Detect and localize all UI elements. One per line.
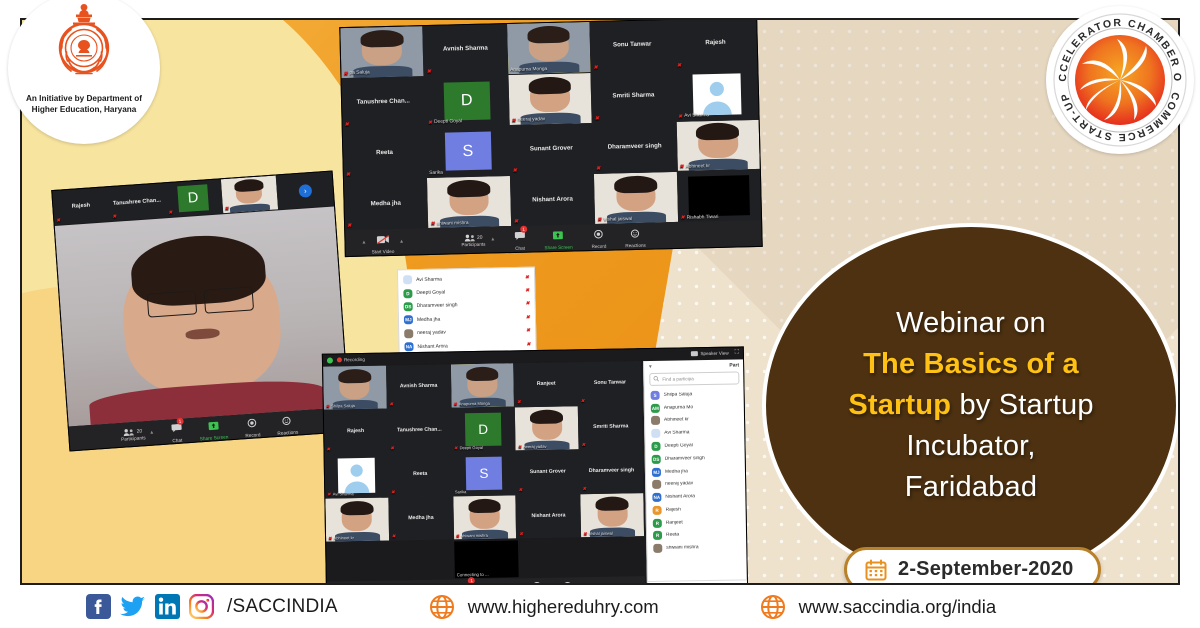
recording-dot-icon (337, 357, 342, 362)
participant-photo (220, 175, 277, 213)
search-placeholder: Find a participa (662, 376, 694, 382)
participant-tile[interactable]: Medha jha✖ (389, 496, 453, 540)
mic-muted-icon: ✖ (389, 401, 393, 407)
mic-muted-icon: ✖ (518, 444, 522, 449)
mic-muted-icon: ✖ (56, 219, 60, 224)
participant-corner-name: Anapurna Monga (510, 67, 547, 73)
reactions-label: Reactions (625, 242, 646, 247)
title-line-2: The Basics of a (863, 344, 1079, 385)
mic-muted-icon: ✖ (526, 341, 530, 347)
share-screen-icon (207, 417, 219, 436)
mic-muted-icon: ✖ (582, 486, 586, 492)
participant-tile[interactable]: ✖Anapurna Monga (451, 363, 515, 407)
participant-tile[interactable]: ✖shiwani mishra (427, 176, 511, 228)
participant-name: Anapurna Mo (664, 404, 739, 410)
participant-initial-avatar: MJ (404, 315, 413, 324)
mic-muted-icon: ✖ (343, 71, 347, 77)
participant-tile[interactable]: SSarika (452, 451, 516, 495)
sacc-swirl-logo-icon: ACCELERATOR CHAMBER OF COMMERCE START-UP (1046, 6, 1194, 154)
participant-avatar (653, 544, 662, 553)
chat-label: Chat (172, 437, 182, 443)
mic-muted-icon: ✖ (430, 221, 434, 227)
mic-muted-icon: ✖ (112, 215, 116, 220)
participant-tile[interactable]: D✖Deepti Goyal (425, 75, 509, 127)
mic-muted-icon: ✖ (392, 533, 396, 539)
globe-icon (429, 594, 455, 620)
mic-muted-icon: ✖ (454, 445, 458, 450)
participant-name: Rajesh (345, 429, 366, 435)
participant-name: Smriti Sharma (610, 93, 656, 101)
participant-corner-name: ✖Anapurna Monga (453, 401, 490, 407)
participant-name: Deepti Goyal (664, 442, 739, 448)
participant-tile[interactable]: ✖neeraj yadav (508, 73, 592, 125)
participant-name: Avi Sharma (416, 275, 521, 283)
reactions-icon (281, 411, 292, 430)
participant-corner-name: ✖Vishal jaiswal (583, 531, 613, 537)
participant-avatar (404, 329, 413, 338)
video-caret-icon[interactable]: ▲ (361, 240, 366, 246)
participant-tile[interactable]: ✖Abhineet kr (325, 498, 389, 542)
record-icon (531, 578, 541, 585)
participant-tile[interactable]: ✖Avi Sharma (675, 69, 759, 121)
share-screen-icon (553, 226, 564, 244)
title-circle: Webinar on The Basics of a Startup by St… (762, 223, 1180, 585)
globe-icon (760, 594, 786, 620)
chat-badge: 1 (468, 577, 475, 584)
chat-badge: 1 (176, 417, 183, 424)
participant-corner-name: Sarika (429, 171, 443, 176)
participant-name: Sonu Tanwar (592, 380, 628, 386)
participant-tile[interactable]: Ranjeet✖ (514, 362, 578, 406)
mic-muted-icon: ✖ (224, 207, 228, 212)
participant-initial-avatar: D (403, 289, 412, 298)
participant-name: Ranjeet (535, 381, 558, 387)
mic-muted-icon: ✖ (428, 119, 432, 125)
fullscreen-icon[interactable]: ⛶ (735, 349, 739, 356)
record-button[interactable]: Record (591, 225, 606, 248)
zoom-window-gallery-with-panel[interactable]: Recording Speaker View ⛶ ✖Shilpa SalujaA… (322, 346, 748, 585)
participant-name: neeraj yadav (417, 328, 522, 336)
participant-name: Sunant Grover (528, 469, 568, 475)
participant-initial-avatar: S (444, 132, 491, 171)
participant-tile[interactable]: Sunant Grover✖ (510, 123, 594, 175)
mic-muted-icon: ✖ (345, 121, 350, 127)
mic-muted-icon: ✖ (326, 404, 330, 409)
mic-status: ✖ (168, 211, 172, 216)
panel-collapse-icon[interactable]: ▾ (649, 364, 652, 370)
mic-status: ✖ (519, 487, 523, 493)
chat-badge: 1 (520, 225, 527, 232)
mic-muted-icon: ✖ (390, 445, 394, 451)
facebook-icon[interactable] (86, 594, 111, 619)
mic-status: ✖ (112, 215, 116, 220)
participant-corner-name: ✖Shilpa Saluja (326, 403, 355, 409)
title-line-3-highlight: Startup (848, 389, 951, 421)
mic-muted-icon: ✖ (453, 401, 457, 406)
participant-name: Shilpa Saluja (664, 391, 739, 397)
mic-status: ✖ (346, 172, 351, 178)
view-label[interactable]: Speaker View (700, 351, 728, 356)
mic-status: ✖ (56, 219, 60, 224)
mic-muted-icon: ✖ (581, 398, 585, 404)
mic-muted-icon: ✖ (679, 164, 683, 170)
chat-button[interactable]: 1 Chat (170, 419, 183, 443)
website-2-url[interactable]: www.saccindia.org/india (799, 596, 996, 618)
participant-tile[interactable]: Rajesh✖ (324, 410, 388, 454)
participant-tile[interactable]: Sunant Grover✖ (516, 450, 580, 494)
mic-muted-icon: ✖ (456, 533, 460, 538)
participant-corner-name: ✖Deepti Goyal (454, 445, 483, 451)
haryana-government-emblem-icon (46, 2, 122, 91)
participant-name: Avi Sharma (664, 430, 739, 436)
mic-status: ✖ (390, 445, 394, 451)
record-button[interactable]: Record (529, 578, 543, 585)
title-line-5: Faridabad (905, 467, 1037, 508)
participant-tile[interactable]: ✖neeraj yadav (515, 406, 579, 450)
participant-name: Smriti Sharma (591, 424, 630, 430)
participant-name: Rajesh (666, 506, 741, 512)
calendar-icon (865, 559, 887, 581)
reactions-button[interactable]: Reactions (276, 411, 298, 435)
participant-name: Nishant Arora (665, 494, 740, 500)
mic-muted-icon: ✖ (526, 314, 530, 320)
participant-name: Tanushree Chan... (111, 197, 163, 207)
mic-muted-icon: ✖ (678, 113, 682, 119)
record-label: Record (592, 243, 607, 248)
mic-muted-icon: ✖ (519, 487, 523, 493)
participant-tile[interactable]: Smriti Sharma✖ (592, 71, 676, 123)
mic-status: ✖ (596, 166, 601, 172)
participant-tile[interactable]: D✖Deepti Goyal (451, 407, 515, 451)
participant-avatar (403, 275, 412, 284)
participant-tile[interactable]: D✖ (164, 179, 221, 217)
find-participant-input[interactable]: Find a participa (649, 371, 739, 386)
participant-name: Medha jha (369, 200, 403, 208)
share-screen-button[interactable]: Share Screen (198, 416, 228, 441)
participant-tile[interactable]: Nishant Arora✖ (511, 174, 595, 226)
participant-initial-avatar: AM (651, 403, 660, 412)
participant-tile[interactable]: ✖Avi Sharma (325, 454, 389, 498)
mic-muted-icon: ✖ (513, 168, 518, 174)
mic-muted-icon: ✖ (593, 65, 598, 71)
participants-label: Participants (121, 435, 146, 442)
website-1-url[interactable]: www.highereduhry.com (468, 596, 659, 618)
record-label: Record (245, 432, 260, 438)
participant-tile[interactable]: Anapurna Monga (507, 22, 591, 74)
participant-tile[interactable]: Tanushree Chan...✖ (388, 408, 452, 452)
mic-status: ✖ (427, 69, 432, 75)
mic-muted-icon: ✖ (427, 69, 432, 75)
mic-muted-icon: ✖ (677, 63, 682, 69)
participants-label: Participants (461, 241, 485, 247)
participant-name: Dharamveer singh (665, 455, 740, 461)
participant-tile[interactable]: ✖Vishal jaiswal (594, 172, 678, 224)
mic-status: ✖ (582, 442, 586, 448)
mic-status: ✖ (347, 223, 352, 229)
participant-name: Abhineet kr (664, 417, 739, 423)
social-handle: /SACCINDIA (227, 596, 338, 618)
participant-list-item[interactable]: shiwani mishra (651, 541, 743, 555)
participant-name: Nishant Arora (530, 196, 575, 204)
participant-initial-avatar: MJ (652, 467, 661, 476)
mic-status: ✖ (392, 533, 396, 539)
mic-status: ✖ (595, 115, 600, 121)
mic-status: ✖ (593, 65, 598, 71)
emblem-caption: An Initiative by Department of Higher Ed… (20, 93, 148, 115)
mic-status: ✖ (391, 489, 395, 495)
participant-corner-name: ✖Avi Sharma (678, 113, 709, 120)
participants-panel[interactable]: ▾ Part Find a participa SShilpa SalujaAM… (643, 359, 748, 585)
chat-button[interactable]: 1 Chat (514, 227, 526, 250)
mic-status: ✖ (513, 168, 518, 174)
participant-corner-name: ✖Deepti Goyal (428, 119, 462, 126)
participant-name: Medha jha (665, 468, 740, 474)
participant-name: Reeta (374, 150, 395, 157)
participant-corner-name: ✖pa Saluja (343, 70, 369, 77)
default-avatar-icon (338, 458, 375, 494)
participant-name: Dharamveer singh (606, 143, 664, 151)
mic-status: ✖ (519, 531, 523, 537)
participant-corner-name: ✖shiwani mishra (430, 220, 468, 227)
participant-corner-name: ✖Avi Sharma (327, 491, 353, 496)
participant-initial-avatar: DS (652, 455, 661, 464)
start-video-button[interactable]: Start Video (371, 230, 394, 254)
mic-muted-icon: ✖ (525, 288, 529, 294)
participant-tile[interactable]: Dharamveer singh✖ (593, 121, 677, 173)
website-2[interactable]: www.saccindia.org/india (760, 594, 996, 620)
participant-name: Sonu Tanwar (611, 42, 654, 50)
participant-tile[interactable]: Reeta✖ (388, 452, 452, 496)
participant-tile[interactable]: Sonu Tanwar✖ (590, 20, 674, 72)
participant-name: Dharamveer singh (587, 468, 636, 475)
participant-tile[interactable]: SSarika (426, 126, 510, 178)
zoom-window-gallery[interactable]: ✖pa SalujaAvnish Sharma✖Anapurna MongaSo… (339, 18, 762, 257)
participant-avatar (651, 429, 660, 438)
participant-name: Avnish Sharma (398, 383, 440, 389)
reactions-button[interactable]: Reactions (625, 224, 646, 247)
participant-name: Reeta (666, 532, 741, 538)
mic-muted-icon: ✖ (168, 211, 172, 216)
emblem-caption-line2: Higher Education, Haryana (32, 105, 137, 114)
default-avatar-icon (692, 74, 741, 116)
participant-corner-name: ✖Rishabh Tiwari (681, 214, 719, 221)
participant-initial-avatar: DS (404, 302, 413, 311)
camera-off-tile (688, 175, 750, 216)
mic-muted-icon: ✖ (583, 531, 587, 536)
mic-muted-icon: ✖ (596, 166, 601, 172)
title-line-1: Webinar on (896, 303, 1046, 344)
record-icon (246, 414, 257, 433)
sacc-logo-badge: ACCELERATOR CHAMBER OF COMMERCE START-UP (1046, 6, 1194, 154)
participant-photo (507, 22, 591, 74)
mic-muted-icon: ✖ (582, 442, 586, 448)
mic-muted-icon: ✖ (347, 223, 352, 229)
participant-corner-name: ✖neeraj yadav (518, 444, 547, 449)
participant-initial-avatar: NA (652, 493, 661, 502)
participant-tile[interactable]: Tanushree Chan...✖ (342, 77, 426, 129)
participant-name: Nishant Arora (417, 341, 522, 349)
participant-name: Tanushree Chan... (355, 99, 412, 107)
participant-tile[interactable]: ✖Abhineet kr (676, 119, 760, 171)
participant-tile[interactable]: Avnish Sharma✖ (424, 24, 508, 76)
video-off-icon (376, 230, 389, 248)
share-screen-button[interactable]: Share Screen (488, 578, 515, 585)
mic-muted-icon: ✖ (328, 536, 332, 541)
mic-muted-icon: ✖ (391, 489, 395, 495)
participant-name: Ranjeet (666, 519, 741, 525)
speaker-view-icon (690, 351, 697, 356)
participant-tile[interactable]: ✖shiwani mishra (453, 495, 517, 539)
panel-title: Part (729, 362, 739, 368)
participant-tile[interactable]: Smriti Sharma✖ (579, 405, 643, 449)
participant-name: Dharamveer singh (417, 301, 522, 309)
mic-status: ✖ (582, 486, 586, 492)
date-text: 2-September-2020 (898, 558, 1074, 581)
video-menu-caret-icon[interactable]: ▲ (399, 239, 404, 245)
participant-corner-name: ✖Vishal jaiswal (597, 216, 632, 223)
share-screen-label: Share Screen (544, 244, 572, 250)
participants-button[interactable]: 20 Participants (461, 233, 485, 247)
participant-tile[interactable]: Nishant Arora✖ (517, 494, 581, 538)
mic-muted-icon: ✖ (346, 172, 351, 178)
webinar-poster: ✖pa SalujaAvnish Sharma✖Anapurna MongaSo… (0, 0, 1200, 628)
mic-muted-icon: ✖ (511, 117, 515, 123)
participant-name: Sunant Grover (528, 145, 575, 153)
participant-name: shiwani mishra (666, 545, 741, 551)
participant-tile[interactable]: ✖ (220, 175, 277, 213)
participant-tile[interactable]: Rajesh✖ (52, 187, 109, 225)
participant-name: Avnish Sharma (441, 46, 490, 54)
participant-corner-name: ✖shiwani mishra (456, 533, 488, 539)
linkedin-icon[interactable] (155, 594, 180, 619)
chat-label: Chat (515, 245, 525, 250)
mic-muted-icon: ✖ (517, 399, 521, 405)
share-screen-button[interactable]: Share Screen (544, 226, 573, 250)
participant-initial-avatar: S (466, 457, 502, 490)
participant-name: neeraj yadav (665, 481, 740, 487)
connecting-tile: Connecting to ... (453, 539, 520, 579)
mic-muted-icon: ✖ (597, 217, 601, 223)
shield-icon[interactable] (327, 357, 333, 363)
mic-status: ✖ (677, 63, 682, 69)
chevron-right-icon[interactable]: › (277, 172, 334, 210)
instagram-icon[interactable] (189, 594, 214, 619)
search-icon (653, 376, 659, 383)
mic-muted-icon: ✖ (327, 492, 331, 497)
reactions-label: Reactions (277, 429, 298, 435)
participant-initial-avatar: D (465, 413, 501, 446)
mic-status: ✖ (345, 121, 350, 127)
reactions-icon (630, 224, 640, 242)
participant-tile[interactable]: Rajesh✖ (674, 18, 758, 70)
start-video-label: Start Video (372, 248, 395, 254)
participant-initial-avatar: D (177, 184, 210, 212)
participant-avatar (651, 416, 660, 425)
mic-muted-icon: ✖ (514, 219, 519, 225)
mic-muted-icon: ✖ (681, 215, 685, 221)
mic-muted-icon: ✖ (519, 531, 523, 537)
record-icon (593, 225, 603, 243)
date-badge: 2-September-2020 (844, 547, 1101, 585)
recording-label: Recording (344, 357, 365, 362)
mic-muted-icon: ✖ (595, 115, 600, 121)
participant-tile[interactable]: Avnish Sharma✖ (387, 364, 451, 408)
participants-count: 20 (477, 234, 483, 240)
participant-name: Rajesh (70, 202, 93, 210)
participant-tile[interactable]: Sonu Tanwar✖ (578, 361, 642, 405)
participant-name: Nishant Arora (529, 513, 567, 519)
mic-status: ✖ (389, 401, 393, 407)
participant-corner-name: Sarika (455, 489, 467, 494)
share-screen-label: Share Screen (200, 434, 229, 441)
speaker-video (55, 206, 348, 426)
mic-status: ✖ (326, 447, 330, 453)
mic-status: ✖ (581, 398, 585, 404)
footer-bar: /SACCINDIA www.highereduhry.com www.sacc… (0, 585, 1200, 628)
mic-muted-icon: ✖ (526, 328, 530, 334)
participant-name: Reeta (411, 471, 429, 477)
participants-caret-icon[interactable]: ▲ (149, 430, 154, 436)
participant-tile[interactable]: ✖Shilpa Saluja (323, 366, 387, 410)
mic-muted-icon: ✖ (525, 301, 529, 307)
participant-tile[interactable]: ✖Vishal jaiswal (581, 493, 645, 537)
title-line-4: Incubator, (906, 426, 1035, 467)
social-links: /SACCINDIA (86, 594, 338, 619)
participant-initial-avatar: R (653, 518, 662, 527)
participant-initial-avatar: D (651, 442, 660, 451)
participant-corner-name: ✖Abhineet kr (679, 163, 710, 170)
participant-tile[interactable]: Tanushree Chan...✖ (108, 183, 165, 221)
participant-name: Deepti Goyal (416, 288, 521, 296)
mic-muted-icon: ✖ (525, 274, 529, 280)
participant-name: Rajesh (703, 40, 727, 47)
participant-avatar (652, 480, 661, 489)
poster-frame: ✖pa SalujaAvnish Sharma✖Anapurna MongaSo… (20, 18, 1180, 585)
reactions-icon (563, 577, 573, 585)
record-button[interactable]: Record (244, 414, 261, 438)
emblem-caption-line1: An Initiative by Department of (26, 94, 142, 103)
participant-corner-name: ✖Abhineet kr (328, 535, 354, 540)
participant-tile[interactable]: Reeta✖ (343, 128, 427, 180)
participant-tile[interactable]: ✖pa Saluja (340, 26, 424, 78)
participant-tile[interactable]: Dharamveer singh✖ (580, 449, 644, 493)
mic-muted-icon: ✖ (326, 447, 330, 453)
participant-initial-avatar: R (653, 506, 662, 515)
title-line-3: Startup by Startup (848, 385, 1093, 426)
title-line-3-tail: by Startup (951, 389, 1093, 421)
participant-initial-avatar: NA (404, 342, 413, 351)
participant-initial-avatar: R (653, 531, 662, 540)
participants-button[interactable]: 20 Participants (120, 427, 145, 442)
participant-initial-avatar: S (651, 391, 660, 400)
website-1[interactable]: www.highereduhry.com (429, 594, 659, 620)
participant-tile[interactable]: Medha jha✖ (344, 178, 428, 230)
participants-caret-icon[interactable]: ▲ (490, 236, 495, 242)
mic-status: ✖ (514, 219, 519, 225)
twitter-icon[interactable] (120, 594, 146, 619)
mic-status: ✖ (224, 207, 228, 212)
reactions-button[interactable]: Reactions (558, 577, 578, 585)
participant-corner-name: ✖neeraj yadav (511, 117, 545, 124)
participants-count: 20 (136, 428, 142, 434)
zoom-window-speaker[interactable]: Rajesh✖Tanushree Chan...✖D✖✖› 20 (51, 170, 351, 451)
participant-name: Medha jha (406, 515, 435, 521)
mic-status: ✖ (517, 399, 521, 405)
participant-name: Medha jha (417, 315, 522, 323)
participant-name: Tanushree Chan... (395, 427, 444, 434)
participant-initial-avatar: D (443, 81, 490, 120)
participant-tile[interactable]: ✖Rishabh Tiwari (677, 170, 761, 222)
